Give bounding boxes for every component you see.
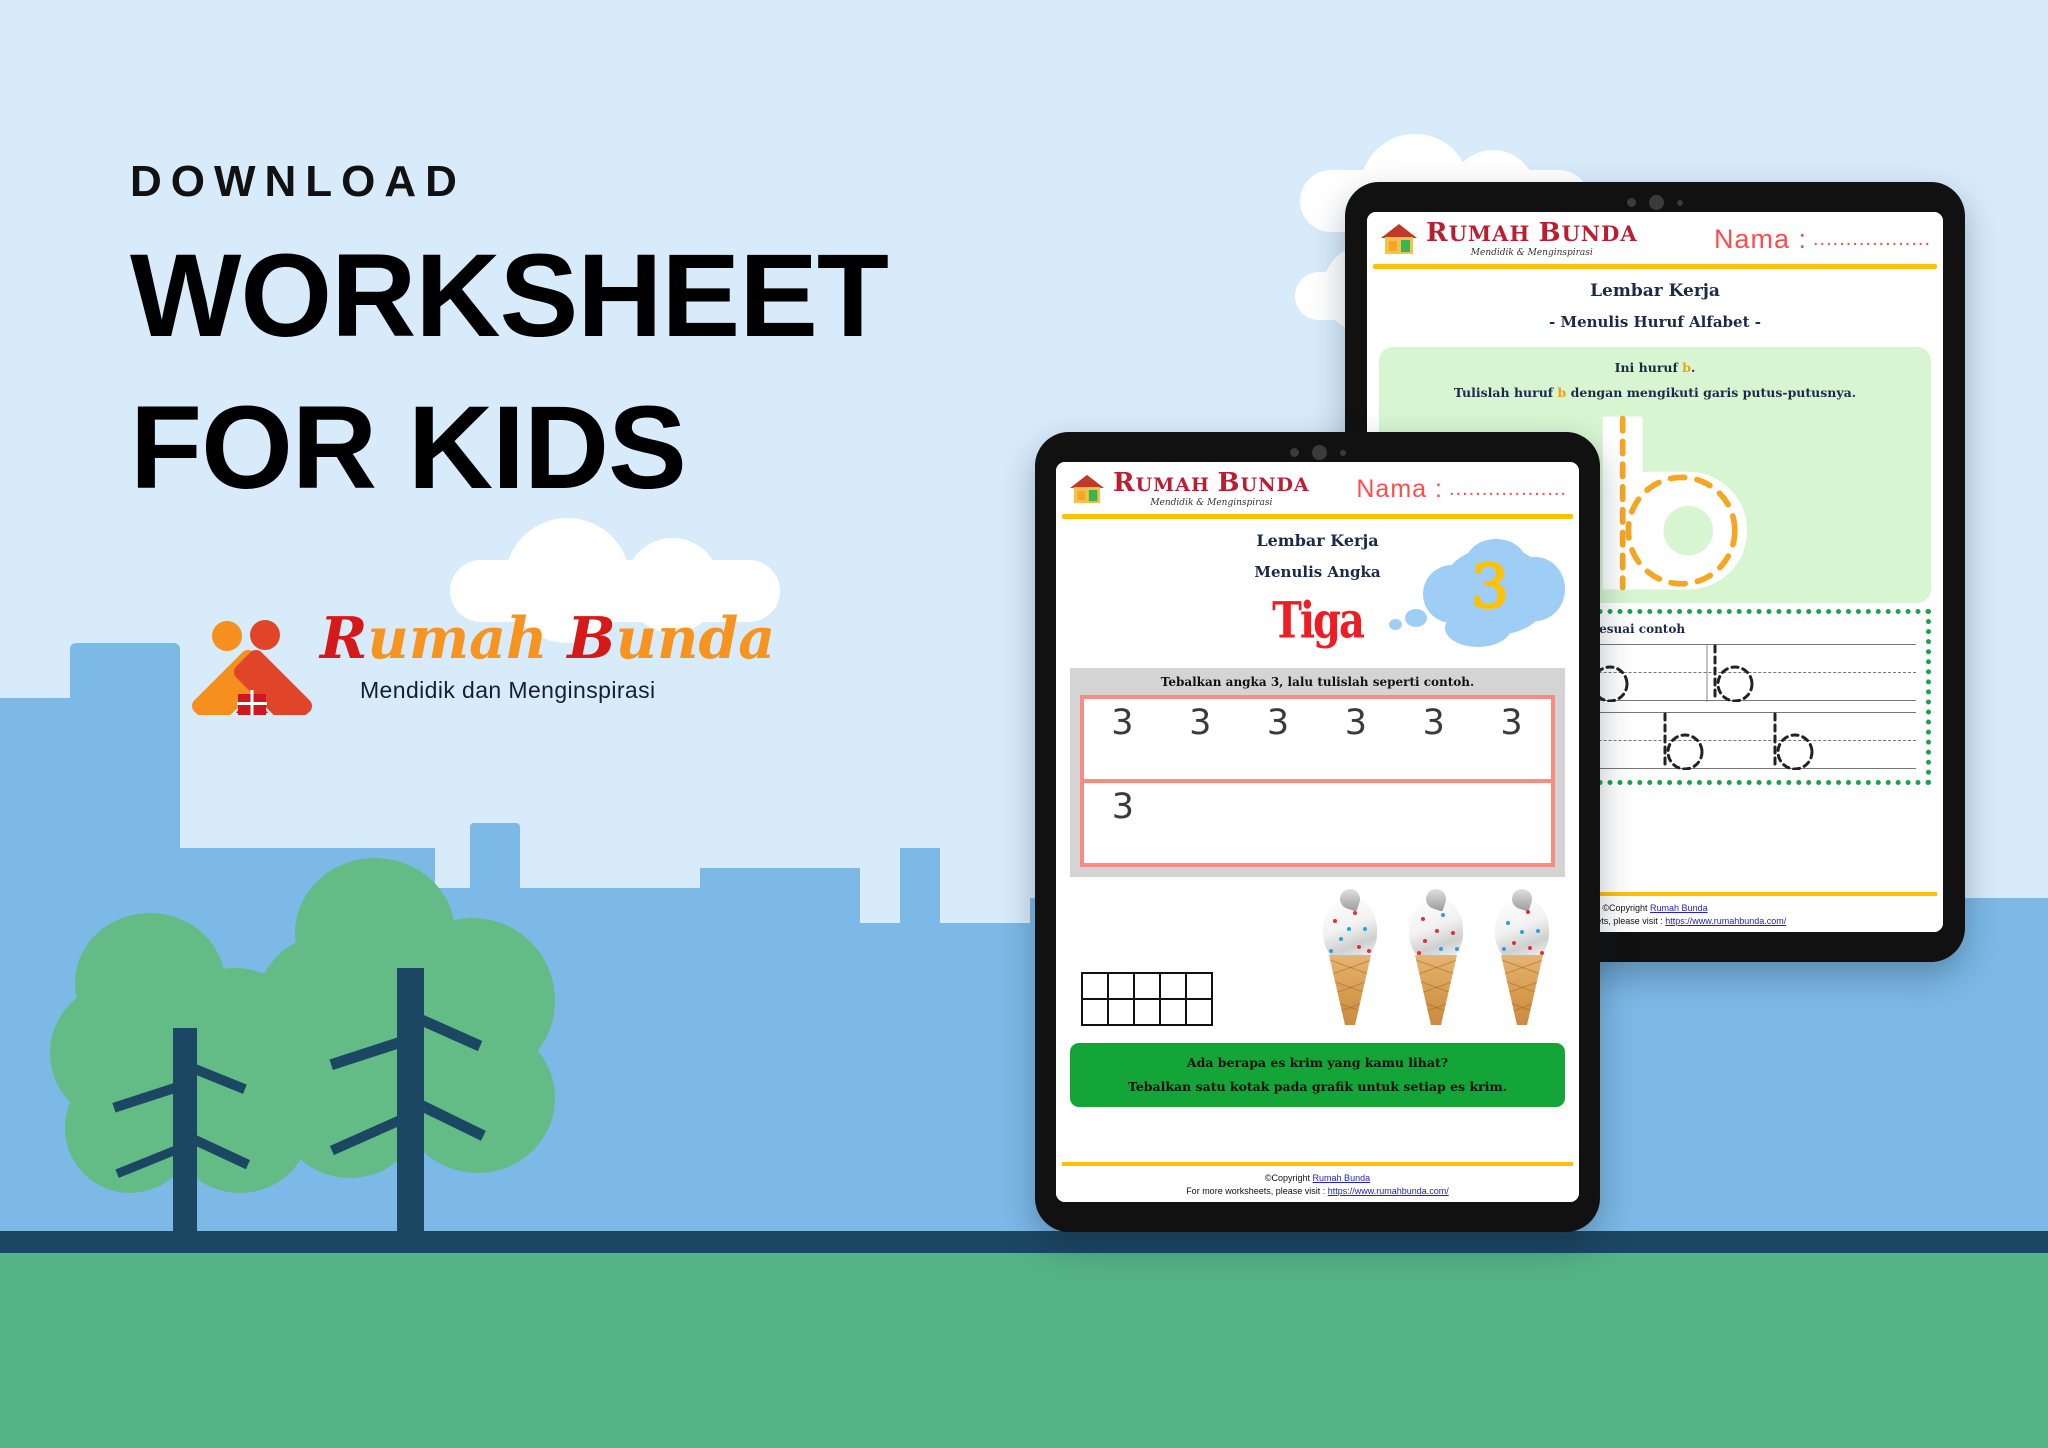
ground-green bbox=[0, 1253, 2048, 1448]
trace-cell[interactable] bbox=[1473, 783, 1551, 863]
worksheet-front-brand-name: RUMAH BUNDA bbox=[1113, 470, 1310, 496]
brand-r: R bbox=[1113, 468, 1136, 498]
trace-row-1[interactable]: 3 3 3 3 3 3 bbox=[1080, 695, 1555, 783]
name-blank-dots: .................. bbox=[1813, 228, 1931, 251]
green-instruction-line1: Ini huruf b. bbox=[1389, 355, 1921, 380]
footer-url-link[interactable]: https://www.rumahbunda.com/ bbox=[1328, 1186, 1449, 1196]
grid-cell[interactable] bbox=[1107, 998, 1135, 1026]
promo-text-block: DOWNLOAD WORKSHEET FOR KIDS bbox=[130, 160, 990, 509]
green-l2-pre: Tulislah huruf bbox=[1454, 385, 1558, 400]
trace-cell[interactable]: 3 bbox=[1084, 699, 1162, 779]
promo-headline-line1: WORKSHEET bbox=[130, 236, 990, 356]
worksheet-front-header: RUMAH BUNDA Mendidik & Menginspirasi Nam… bbox=[1056, 462, 1579, 512]
trace-cell[interactable] bbox=[1317, 783, 1395, 863]
camera-dot-icon bbox=[1290, 448, 1299, 457]
name-label: Nama : bbox=[1356, 475, 1443, 504]
worksheet-back-brandtext: RUMAH BUNDA Mendidik & Menginspirasi bbox=[1426, 220, 1638, 258]
camera-dot-icon bbox=[1627, 198, 1636, 207]
footer-url-link[interactable]: https://www.rumahbunda.com/ bbox=[1665, 916, 1786, 926]
grid-cell[interactable] bbox=[1159, 998, 1187, 1026]
worksheet-front-brand-tagline: Mendidik & Menginspirasi bbox=[1113, 498, 1310, 508]
grid-cell[interactable] bbox=[1185, 998, 1213, 1026]
thought-bubble: 3 bbox=[1419, 547, 1569, 643]
green-l1-pre: Ini huruf bbox=[1615, 360, 1683, 375]
green-l2-letter: b bbox=[1558, 385, 1567, 400]
camera-lens-icon bbox=[1649, 195, 1664, 210]
footer-brand-link[interactable]: Rumah Bunda bbox=[1650, 903, 1708, 913]
brand-b: B bbox=[1218, 468, 1241, 498]
ice-cream-cone bbox=[1319, 897, 1381, 1025]
brand-unda: UNDA bbox=[1241, 474, 1310, 496]
house-people-icon bbox=[190, 620, 315, 715]
logo-wordmark: Rumah Bunda bbox=[320, 610, 775, 667]
logo-text: Rumah Bunda Mendidik dan Menginspirasi bbox=[320, 610, 775, 704]
rumah-bunda-logo: Rumah Bunda Mendidik dan Menginspirasi bbox=[190, 612, 710, 732]
trace-cell[interactable] bbox=[1162, 783, 1240, 863]
worksheet-front-footer: ©Copyright Rumah Bunda For more workshee… bbox=[1056, 1169, 1579, 1202]
sensor-dot-icon bbox=[1340, 450, 1346, 456]
tablet-back-camera-row bbox=[1345, 195, 1965, 210]
name-label: Nama : bbox=[1714, 224, 1807, 255]
footer-copy-text: ©Copyright bbox=[1265, 1173, 1313, 1183]
worksheet-back-brand-name: RUMAH BUNDA bbox=[1426, 220, 1638, 246]
promo-eyebrow: DOWNLOAD bbox=[130, 160, 990, 204]
trace-cell[interactable] bbox=[1240, 783, 1318, 863]
green-l1-letter: b bbox=[1682, 360, 1691, 375]
footer-visit-line: For more worksheets, please visit : http… bbox=[1056, 1185, 1579, 1198]
question-line1: Ada berapa es krim yang kamu lihat? bbox=[1076, 1051, 1559, 1075]
poster-stage: DOWNLOAD WORKSHEET FOR KIDS Rumah Bunda … bbox=[0, 0, 2048, 1448]
house-icon bbox=[1379, 222, 1419, 256]
green-instruction-line2: Tulislah huruf b dengan mengikuti garis … bbox=[1389, 380, 1921, 405]
promo-headline-line2: FOR KIDS bbox=[130, 388, 990, 508]
footer-copyright-line: ©Copyright Rumah Bunda bbox=[1056, 1172, 1579, 1185]
worksheet-back-title: Lembar Kerja bbox=[1367, 281, 1943, 301]
logo-tagline: Mendidik dan Menginspirasi bbox=[360, 677, 775, 704]
worksheet-back-brand: RUMAH BUNDA Mendidik & Menginspirasi bbox=[1379, 220, 1638, 258]
trace-row-2[interactable]: 3 bbox=[1080, 783, 1555, 867]
worksheet-front-name-field[interactable]: Nama : .................. bbox=[1356, 475, 1567, 504]
worksheet-back-brand-tagline: Mendidik & Menginspirasi bbox=[1426, 248, 1638, 258]
worksheet-front-brandtext: RUMAH BUNDA Mendidik & Menginspirasi bbox=[1113, 470, 1310, 508]
camera-lens-icon bbox=[1312, 445, 1327, 460]
trace-cell[interactable]: 3 bbox=[1084, 783, 1162, 863]
ice-cream-cone bbox=[1491, 897, 1553, 1025]
trace-cell[interactable]: 3 bbox=[1473, 699, 1551, 779]
grid-cell[interactable] bbox=[1081, 998, 1109, 1026]
worksheet-back-header: RUMAH BUNDA Mendidik & Menginspirasi Nam… bbox=[1367, 212, 1943, 262]
logo-word1-rest: umah bbox=[367, 605, 547, 672]
green-l1-post: . bbox=[1691, 360, 1695, 375]
house-icon bbox=[1068, 473, 1106, 505]
worksheet-numbers: RUMAH BUNDA Mendidik & Menginspirasi Nam… bbox=[1056, 462, 1579, 1202]
green-l2-post: dengan mengikuti garis putus-putusnya. bbox=[1566, 385, 1856, 400]
sensor-dot-icon bbox=[1677, 200, 1683, 206]
worksheet-back-name-field[interactable]: Nama : .................. bbox=[1714, 224, 1931, 255]
worksheet-front-body: Lembar Kerja Menulis Angka Tiga 3 bbox=[1056, 519, 1579, 1162]
worksheet-front-brand: RUMAH BUNDA Mendidik & Menginspirasi bbox=[1068, 470, 1310, 508]
trace-cell[interactable]: 3 bbox=[1240, 699, 1318, 779]
logo-word2-cap: B bbox=[567, 605, 615, 672]
ice-cream-group bbox=[1319, 897, 1553, 1025]
question-line2: Tebalkan satu kotak pada grafik untuk se… bbox=[1076, 1075, 1559, 1099]
grid-cell[interactable] bbox=[1185, 972, 1213, 1000]
brand-umah: UMAH bbox=[1449, 221, 1531, 246]
grid-cell[interactable] bbox=[1081, 972, 1109, 1000]
worksheet-back-subtitle: - Menulis Huruf Alfabet - bbox=[1367, 313, 1943, 331]
tablet-front-screen: RUMAH BUNDA Mendidik & Menginspirasi Nam… bbox=[1056, 462, 1579, 1202]
footer-copy-text: ©Copyright bbox=[1602, 903, 1650, 913]
name-blank-dots: .................. bbox=[1449, 478, 1567, 501]
tally-grid[interactable] bbox=[1082, 973, 1212, 1025]
tablet-front-camera-row bbox=[1035, 445, 1600, 460]
thought-bubble-number: 3 bbox=[1471, 557, 1509, 617]
logo-word2-rest: unda bbox=[616, 605, 776, 672]
tablet-front[interactable]: RUMAH BUNDA Mendidik & Menginspirasi Nam… bbox=[1035, 432, 1600, 1232]
footer-brand-link[interactable]: Rumah Bunda bbox=[1313, 1173, 1371, 1183]
trace-cell[interactable]: 3 bbox=[1395, 699, 1473, 779]
trace-cell[interactable]: 3 bbox=[1162, 699, 1240, 779]
brand-r: R bbox=[1426, 218, 1449, 248]
question-banner: Ada berapa es krim yang kamu lihat? Teba… bbox=[1070, 1043, 1565, 1107]
trace-cell[interactable] bbox=[1395, 783, 1473, 863]
footer-visit-text: For more worksheets, please visit : bbox=[1186, 1186, 1328, 1196]
trace-cell[interactable]: 3 bbox=[1317, 699, 1395, 779]
grid-cell[interactable] bbox=[1133, 998, 1161, 1026]
logo-word1-cap: R bbox=[320, 605, 367, 672]
grid-cell[interactable] bbox=[1107, 972, 1135, 1000]
ice-cream-cone bbox=[1405, 897, 1467, 1025]
worksheet-front-footer-rule bbox=[1062, 1162, 1573, 1166]
grid-cell[interactable] bbox=[1159, 972, 1187, 1000]
brand-umah: UMAH bbox=[1136, 474, 1210, 496]
grid-cell[interactable] bbox=[1133, 972, 1161, 1000]
tree-right bbox=[255, 858, 585, 1243]
trace-instruction: Tebalkan angka 3, lalu tulislah seperti … bbox=[1080, 675, 1555, 689]
brand-b: B bbox=[1539, 218, 1562, 248]
trace-panel: Tebalkan angka 3, lalu tulislah seperti … bbox=[1070, 668, 1565, 877]
brand-unda: UNDA bbox=[1562, 221, 1638, 246]
